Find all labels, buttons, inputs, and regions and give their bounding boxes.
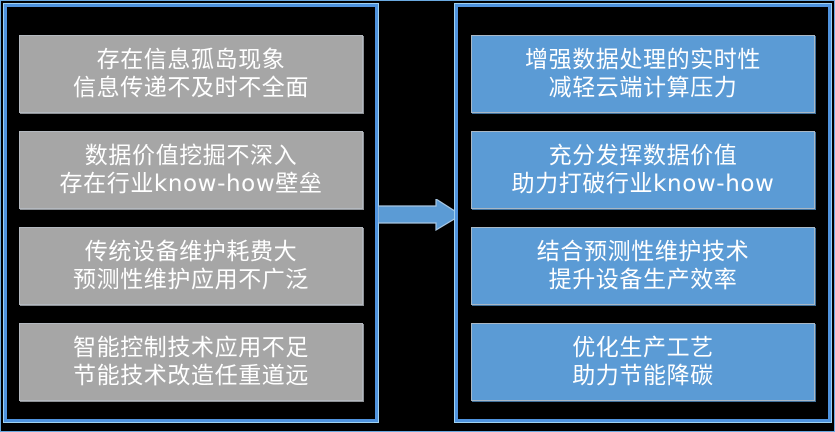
benefit-box-1-line-1: 增强数据处理的实时性 (525, 46, 761, 74)
right-arrow-icon (378, 199, 462, 231)
problem-box-1[interactable]: 存在信息孤岛现象 信息传递不及时不全面 (19, 35, 363, 113)
expected-benefits-panel: 增强数据处理的实时性 减轻云端计算压力 充分发挥数据价值 助力打破行业know-… (455, 4, 831, 422)
current-problems-panel: 存在信息孤岛现象 信息传递不及时不全面 数据价值挖掘不深入 存在行业know-h… (4, 4, 378, 422)
problem-box-3-line-2: 预测性维护应用不广泛 (73, 266, 309, 294)
problem-box-3-line-1: 传统设备维护耗费大 (85, 238, 297, 266)
canvas-left-edge (0, 0, 1, 432)
benefit-box-3[interactable]: 结合预测性维护技术 提升设备生产效率 (471, 227, 815, 305)
canvas-top-edge (0, 0, 835, 1)
benefit-box-4-line-2: 助力节能降碳 (572, 362, 714, 390)
benefit-box-4[interactable]: 优化生产工艺 助力节能降碳 (471, 323, 815, 401)
benefit-box-2-line-1: 充分发挥数据价值 (549, 142, 738, 170)
problem-box-2-line-1: 数据价值挖掘不深入 (85, 142, 297, 170)
problem-box-4-line-2: 节能技术改造任重道远 (73, 362, 309, 390)
benefit-box-4-line-1: 优化生产工艺 (572, 334, 714, 362)
problem-box-2-line-2: 存在行业know-how壁垒 (60, 170, 323, 198)
expected-benefits-box-list: 增强数据处理的实时性 减轻云端计算压力 充分发挥数据价值 助力打破行业know-… (471, 35, 815, 406)
benefit-box-1[interactable]: 增强数据处理的实时性 减轻云端计算压力 (471, 35, 815, 113)
problem-box-4[interactable]: 智能控制技术应用不足 节能技术改造任重道远 (19, 323, 363, 401)
problem-box-1-line-1: 存在信息孤岛现象 (97, 46, 286, 74)
benefit-box-2[interactable]: 充分发挥数据价值 助力打破行业know-how (471, 131, 815, 209)
problem-box-4-line-1: 智能控制技术应用不足 (73, 334, 309, 362)
benefit-box-2-line-2: 助力打破行业know-how (512, 170, 775, 198)
benefit-box-1-line-2: 减轻云端计算压力 (549, 74, 738, 102)
diagram-canvas: 存在信息孤岛现象 信息传递不及时不全面 数据价值挖掘不深入 存在行业know-h… (0, 0, 835, 432)
problem-box-3[interactable]: 传统设备维护耗费大 预测性维护应用不广泛 (19, 227, 363, 305)
current-problems-box-list: 存在信息孤岛现象 信息传递不及时不全面 数据价值挖掘不深入 存在行业know-h… (19, 35, 363, 406)
problem-box-1-line-2: 信息传递不及时不全面 (73, 74, 309, 102)
problem-box-2[interactable]: 数据价值挖掘不深入 存在行业know-how壁垒 (19, 131, 363, 209)
benefit-box-3-line-2: 提升设备生产效率 (549, 266, 738, 294)
benefit-box-3-line-1: 结合预测性维护技术 (537, 238, 749, 266)
